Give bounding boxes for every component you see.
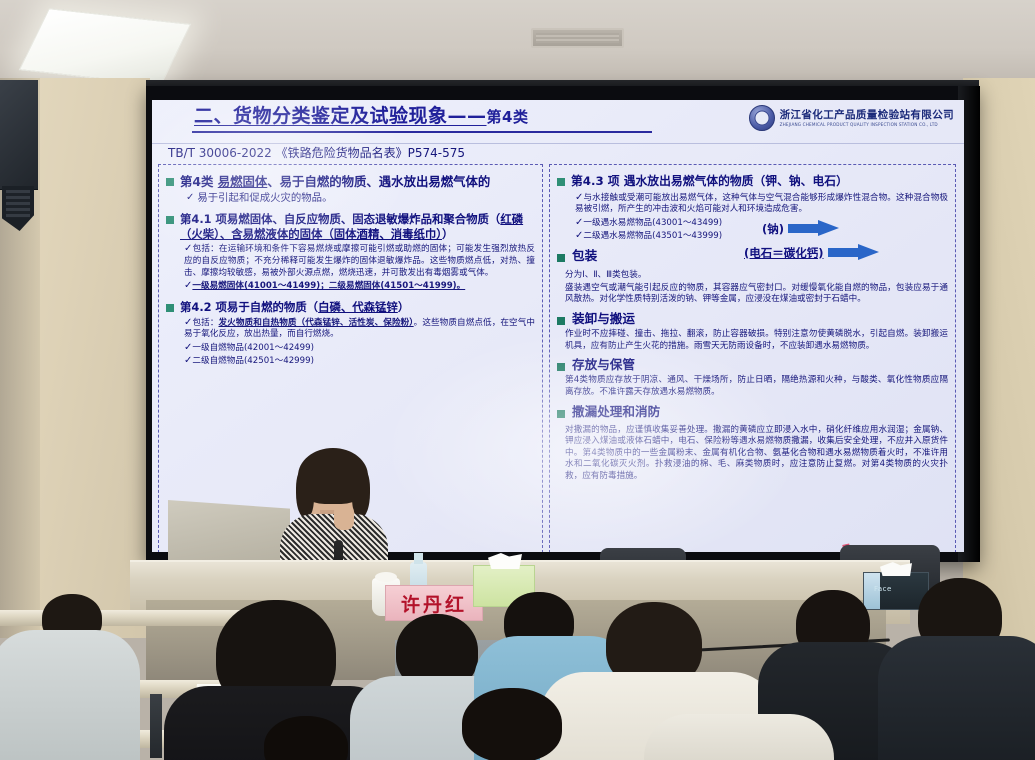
arrow-annotation-carbide: (电石＝碳化钙) [744,244,948,261]
slide-title-main: 二、货物分类鉴定及试验现象—— [194,105,487,127]
arrow-label-carbide: (电石＝碳化钙) [744,246,824,261]
wall-speaker [0,80,38,190]
presenter-hair-right [352,468,370,518]
presenter-hair-left [296,468,314,518]
storage-text: 第4类物质应存放于阴凉、通风、干燥场所，防止日晒，隔绝热源和火种，与酸类、氧化性… [565,375,948,398]
div43-heading: 第4.3 项 遇水放出易燃气体的物质（ [571,174,765,188]
company-logo: 浙江省化工产品质量检验站有限公司 ZHEJIANG CHEMICAL PRODU… [749,105,954,131]
div42-heading-end: ） [398,300,409,314]
company-emblem-icon [749,105,775,131]
slide-header: 二、货物分类鉴定及试验现象——第4类 浙江省化工产品质量检验站有限公司 ZHEJ… [152,100,964,144]
arrow-label-sodium: (钠) [762,222,784,237]
div42-detail-pre: 包括： [192,318,218,328]
div41-codes-text: 一级易燃固体(41001～41499)；二级易燃固体(41501～41999)。 [192,281,465,291]
audience-member [244,716,394,760]
div41-detail-text: 包括：在运输环境和条件下容易燃烧或摩擦可能引燃或助燃的固体；可能发生强烈放热反应… [184,244,535,277]
ceiling-air-vent [531,28,624,48]
div42-detail-underlined: 发火物质和自热物质（代森锰锌、活性炭、保险粉） [219,318,414,328]
desk-leg [150,694,162,758]
spill-heading: 撒漏处理和消防 [572,404,660,420]
slide-title-suffix: 第4类 [487,108,529,126]
div42-code2-text: 二级自燃物品(42501～42999) [192,356,314,366]
class4-note-text: 易于引起和促成火灾的物品。 [197,192,332,205]
div43-detail: ✓与水接触或受潮可能放出易燃气体，这种气体与空气混合能够形成爆炸性混合物。这种混… [575,192,948,216]
div42-code1: ✓一级自燃物品(42001～42499) [184,342,535,355]
packaging-line2: 盛装遇空气或潮气能引起反应的物质，其容器应气密封口。对缓慢氧化能自燃的物品，包装… [565,283,948,306]
div43-code2-text: 二级遇水易燃物品(43501～43999) [583,231,722,241]
right-column-dashed-box: 第4.3 项 遇水放出易燃气体的物质（钾、钠、电石） ✓与水接触或受潮可能放出易… [549,164,956,552]
packaging-heading: 包装 [572,248,597,264]
presentation-slide: 二、货物分类鉴定及试验现象——第4类 浙江省化工产品质量检验站有限公司 ZHEJ… [152,100,964,552]
audience-member [0,608,140,760]
company-name-en: ZHEJIANG CHEMICAL PRODUCT QUALITY INSPEC… [780,122,954,127]
check-icon: ✓ [184,243,193,254]
section-handling: 装卸与搬运 [557,311,948,327]
div41-codes: ✓一级易燃固体(41001～41499)；二级易燃固体(41501～41999)… [184,280,535,293]
bullet-square-icon [557,254,565,262]
slide-right-column: 第4.3 项 遇水放出易燃气体的物质（钾、钠、电石） ✓与水接触或受潮可能放出易… [549,164,956,552]
standard-reference-line: TB/T 30006-2022 《铁路危险货物品名表》P574-575 [168,146,964,161]
packaging-line1: 分为Ⅰ、Ⅱ、Ⅲ类包装。 [565,270,948,282]
audience-member [884,584,1035,760]
div41-heading-end: ） [442,227,453,241]
bullet-square-icon [557,317,565,325]
bullet-square-icon [557,178,565,186]
bullet-div42: 第4.2 项易于自燃的物质（白磷、代森锰锌） [166,300,535,315]
slide-columns: 第4类 易燃固体、易于自燃的物质、遇水放出易燃气体的 ✓ 易于引起和促成火灾的物… [152,162,964,552]
bullet-square-icon [166,304,174,312]
handling-text: 作业时不应摔碰、撞击、拖拉、翻滚，防止容器破损。特别注意勿使黄磷脱水，引起自燃。… [565,329,948,352]
audience-member [412,694,622,760]
bullet-div41: 第4.1 项易燃固体、自反应物质、固态退敏爆炸品和聚合物质（红磷（火柴）、含易燃… [166,212,535,242]
div42-detail: ✓包括：发火物质和自热物质（代森锰锌、活性炭、保险粉）。这些物质自燃点低，在空气… [184,317,535,341]
right-arrow-icon [788,220,840,237]
bullet-square-icon [166,216,174,224]
handling-heading: 装卸与搬运 [572,311,635,327]
div43-detail-text: 与水接触或受潮可能放出易燃气体，这种气体与空气混合能够形成爆炸性混合物。这种混合… [575,193,948,215]
div42-code1-text: 一级自燃物品(42001～42499) [192,343,314,353]
class4-heading-underlined: 易燃固体 [218,174,268,189]
div43-heading-bold: 钾、钠、电石 [765,174,836,188]
ceiling-light-panel [19,8,192,86]
bullet-square-icon [557,410,565,418]
storage-heading: 存放与保管 [572,357,635,373]
bullet-square-icon [166,178,174,186]
bullet-div43: 第4.3 项 遇水放出易燃气体的物质（钾、钠、电石） [557,174,948,189]
div43-code1-text: 一级遇水易燃物品(43001～43499) [583,218,722,228]
substance-arrow-annotations: (钠) (电石＝碳化钙) [762,220,948,268]
spill-text: 对撒漏的物品，应谨慎收集妥善处理。撒漏的黄磷应立即浸入水中，硝化纤维应用水润湿；… [565,425,948,483]
section-spill: 撒漏处理和消防 [557,404,948,420]
slide-title: 二、货物分类鉴定及试验现象——第4类 [194,104,528,128]
conference-room-scene: 二、货物分类鉴定及试验现象——第4类 浙江省化工产品质量检验站有限公司 ZHEJ… [0,0,1035,760]
check-icon: ✓ [186,192,194,205]
div41-heading: 第4.1 项易燃固体、自反应物质、固态退敏爆炸品和聚合物质（ [180,212,500,226]
div43-heading-end: ） [836,174,848,188]
div42-heading: 第4.2 项易于自燃的物质（ [180,300,318,314]
arrow-annotation-sodium: (钠) [762,220,948,237]
bullet-class4: 第4类 易燃固体、易于自燃的物质、遇水放出易燃气体的 [166,174,535,190]
presenter-hand [334,504,354,530]
div42-code2: ✓二级自燃物品(42501～42999) [184,355,535,368]
header-divider [152,143,964,144]
bullet-square-icon [557,363,565,371]
section-storage: 存放与保管 [557,357,948,373]
ceiling [0,0,1035,92]
audience-member [644,714,824,760]
title-underline-rule [192,131,652,133]
div42-heading-underlined: 白磷、代森锰锌 [318,300,398,314]
class4-heading-pre: 第4类 [180,174,218,189]
class4-note: ✓ 易于引起和促成火灾的物品。 [186,192,535,205]
right-arrow-icon [828,244,880,261]
div41-detail: ✓包括：在运输环境和条件下容易燃烧或摩擦可能引燃或助燃的固体；可能发生强烈放热反… [184,243,535,279]
class4-heading-post: 、易于自燃的物质、遇水放出易燃气体的 [267,174,490,189]
company-name-cn: 浙江省化工产品质量检验站有限公司 [780,109,954,122]
